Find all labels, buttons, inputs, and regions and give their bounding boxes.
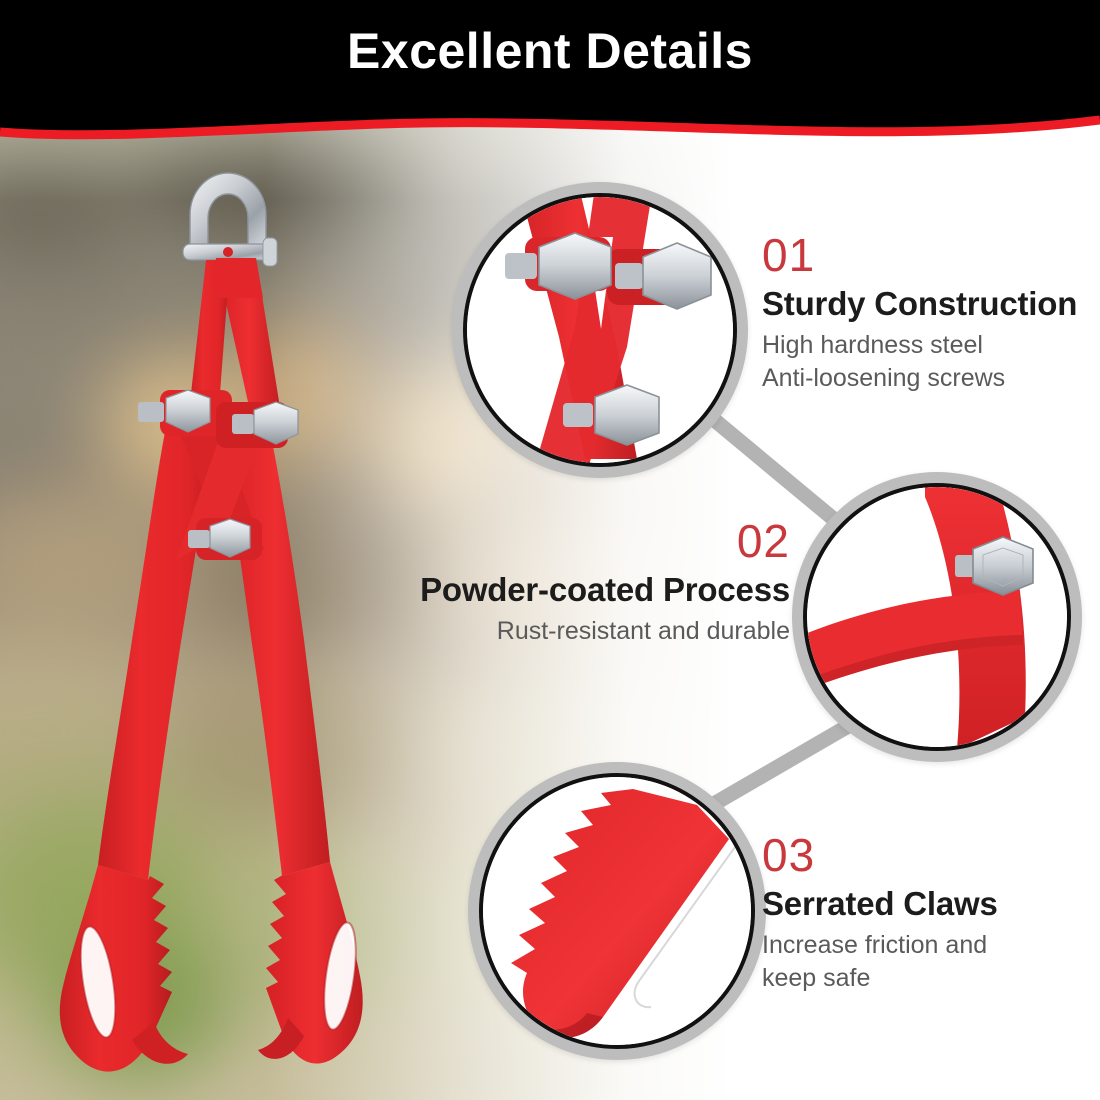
feature-number-03: 03 [762,832,1092,878]
connector-line-2-3 [700,718,862,812]
callout-circle-03 [468,762,766,1060]
pivot-joint-bolts-closeup-icon [467,197,733,463]
feature-title-02: Powder-coated Process [330,571,790,610]
feature-number-02: 02 [330,518,790,564]
feature-number-01: 01 [762,232,1092,278]
page-title: Excellent Details [0,22,1100,80]
feature-description-03: Increase friction and keep safe [762,929,1092,996]
feature-description-01: High hardness steel Anti-loosening screw… [762,329,1092,396]
right-serrated-claw [258,862,363,1064]
feature-block-02: 02 Powder-coated Process Rust-resistant … [330,518,790,648]
infographic-page: Excellent Details 01 Sturdy Construction… [0,0,1100,1100]
callout-circle-01 [452,182,748,478]
callout-lens-03 [479,773,755,1049]
feature-description-02: Rust-resistant and durable [330,615,790,649]
feature-title-01: Sturdy Construction [762,285,1092,324]
feature-title-03: Serrated Claws [762,885,1092,924]
serrated-claw-closeup-icon [483,777,751,1045]
feature-block-01: 01 Sturdy Construction High hardness ste… [762,232,1092,396]
crossing-arms-bolt-closeup-icon [807,487,1067,747]
callout-lens-02 [803,483,1071,751]
shackle-part [183,173,277,266]
left-serrated-claw [60,865,188,1072]
feature-block-03: 03 Serrated Claws Increase friction and … [762,832,1092,996]
callout-circle-02 [792,472,1082,762]
callout-lens-01 [463,193,737,467]
